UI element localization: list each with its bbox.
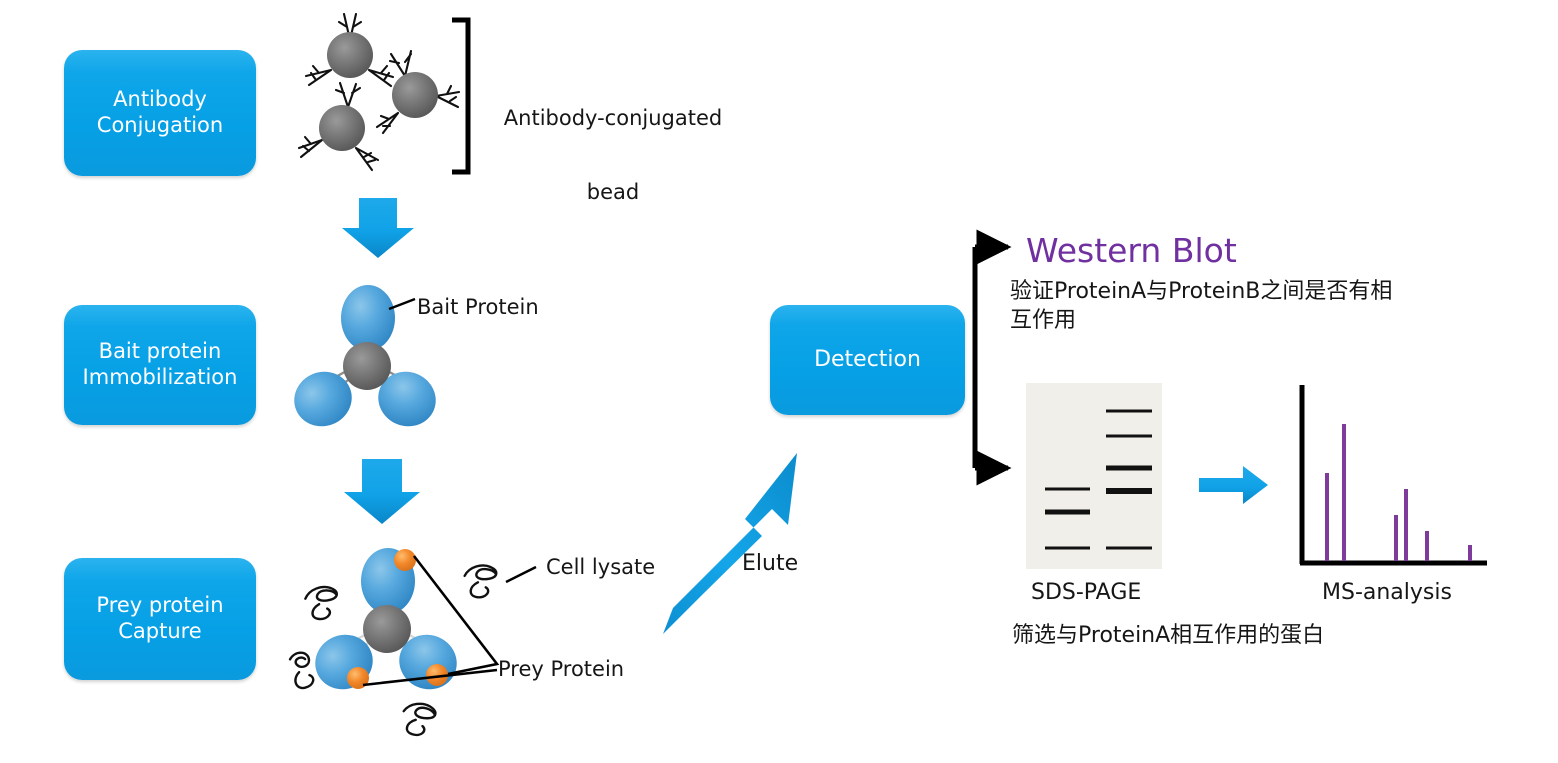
gel-to-ms-arrow: [1199, 466, 1268, 504]
bait-protein-complex: [286, 285, 444, 435]
ms-peaks: [1327, 424, 1470, 561]
prey-protein-dot: [394, 549, 416, 571]
bracket: [452, 20, 468, 172]
antibody-bead: [306, 14, 393, 86]
down-arrow-1: [342, 198, 414, 258]
elute-arrow: [663, 453, 797, 634]
antibody-bead: [299, 83, 378, 170]
squiggle: [401, 702, 436, 737]
antibody-bead: [377, 51, 459, 133]
squiggle: [464, 565, 498, 599]
cell-lysate-leader: [506, 567, 536, 582]
ms-analysis-chart: [1300, 385, 1487, 564]
down-arrow-2: [344, 459, 420, 524]
coip-workflow-diagram: Antibody Conjugation Bait protein Immobi…: [0, 0, 1558, 763]
antibody-bead-group: [299, 14, 468, 172]
squiggle: [304, 585, 340, 621]
squiggle: [288, 651, 315, 690]
bead-core: [343, 342, 391, 390]
prey-capture-complex: [288, 548, 536, 737]
bead-core: [363, 605, 411, 653]
bait-protein-leader: [389, 299, 415, 309]
bait-protein-lobe: [341, 285, 395, 351]
sds-page-gel: [1026, 383, 1162, 569]
detection-branch-connector: [975, 247, 1008, 468]
